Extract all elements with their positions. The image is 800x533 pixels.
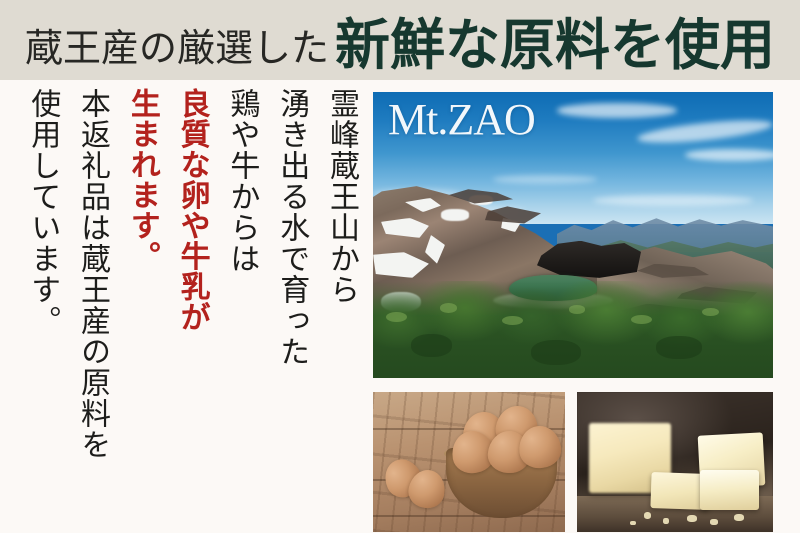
plank-seam (373, 515, 565, 517)
vertical-text-column: 鶏や牛からは (223, 88, 261, 524)
butter-crumb (710, 519, 718, 525)
foliage-shadow (411, 334, 453, 357)
header-lead-text: 蔵王産の厳選した (25, 30, 329, 68)
vertical-text-column: 本返礼品は蔵王産の原料を (73, 88, 111, 524)
vertical-text-column-accent: 生まれます。 (123, 88, 161, 524)
cloud-shape (493, 175, 597, 184)
foliage-speck (440, 303, 457, 312)
butter-crumb (663, 518, 669, 524)
butter-crumb (687, 515, 697, 522)
butter-crumb (734, 514, 744, 521)
vertical-text-column: 霊峰蔵王山から (322, 88, 360, 524)
photo-butter (577, 392, 773, 532)
vertical-text-column-accent: 良質な卵や牛乳が (173, 88, 211, 524)
header-band: 蔵王産の厳選した 新鮮な原料を使用 (0, 0, 800, 80)
vertical-text-column: 使用しています。 (23, 88, 61, 524)
cloud-shape (557, 103, 677, 117)
foliage-shadow (531, 340, 581, 365)
mount-zao-label: Mt.ZAO (388, 98, 535, 142)
vertical-text-column: 湧き出る水で育った (272, 88, 310, 524)
butter-crumb (630, 521, 636, 525)
header-main-text: 新鮮な原料を使用 (335, 18, 775, 73)
foliage-speck (569, 305, 586, 313)
foliage-speck (702, 308, 719, 316)
snow-patch (441, 209, 469, 220)
foreground-vegetation (373, 281, 773, 378)
foliage-speck (502, 316, 523, 325)
promo-banner: 蔵王産の厳選した 新鮮な原料を使用 霊峰蔵王山から 湧き出る水で育った 鶏や牛か… (0, 0, 800, 533)
butter-block (700, 470, 759, 509)
foliage-speck (631, 315, 652, 324)
foliage-shadow (656, 336, 702, 359)
header-inner: 蔵王産の厳選した 新鮮な原料を使用 (25, 15, 775, 70)
foliage-speck (386, 312, 407, 322)
photo-eggs (373, 392, 565, 532)
cloud-shape (685, 149, 773, 160)
vertical-text-block: 霊峰蔵王山から 湧き出る水で育った 鶏や牛からは 良質な卵や牛乳が 生まれます。… (16, 88, 360, 528)
photo-mount-zao: Mt.ZAO (373, 92, 773, 378)
